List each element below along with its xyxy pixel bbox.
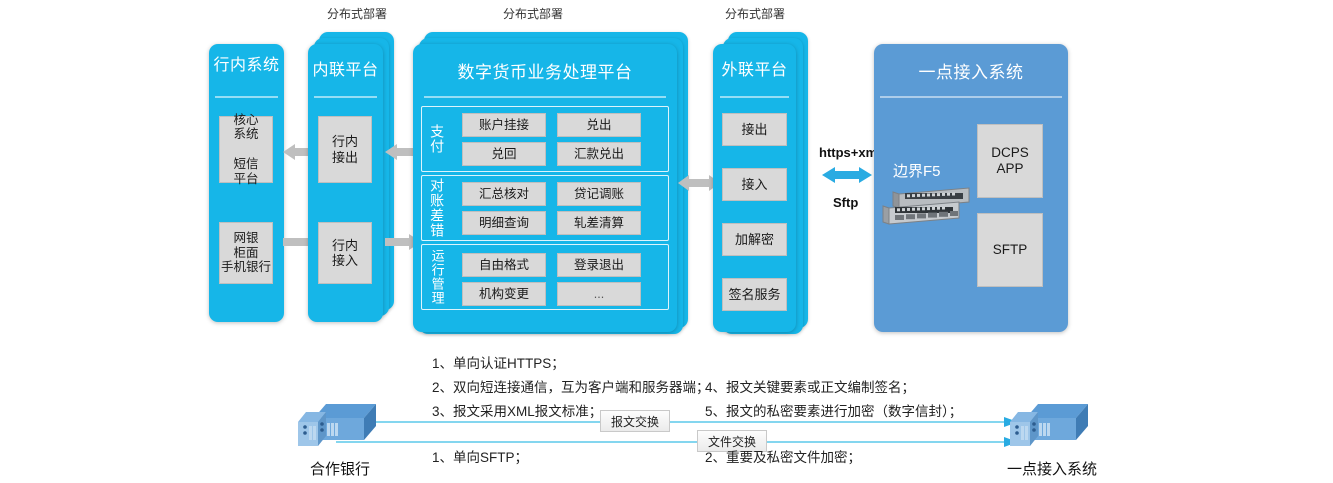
panel-bank-internal-title: 行内系统 bbox=[209, 44, 284, 75]
tile-detail-query[interactable]: 明细查询 bbox=[462, 211, 546, 235]
f5-label: 边界F5 bbox=[893, 160, 941, 181]
tile-signature-service[interactable]: 签名服务 bbox=[722, 278, 787, 311]
tile-credit-adjust[interactable]: 贷记调账 bbox=[557, 182, 641, 206]
tile-exchange-out[interactable]: 兑出 bbox=[557, 113, 641, 137]
note-bottom-right: 2、重要及私密文件加密； bbox=[705, 446, 861, 466]
link-label-https-xml: https+xml bbox=[819, 145, 881, 160]
endpoint-label-right: 一点接入系统 bbox=[992, 458, 1112, 479]
panel-dcep-title: 数字货币业务处理平台 bbox=[413, 44, 677, 83]
link-arrow-blue-icon bbox=[822, 165, 872, 185]
link-label-sftp: Sftp bbox=[833, 195, 858, 210]
tile-core-system[interactable]: 核心 系统 短信 平台 bbox=[219, 116, 273, 183]
server-icon-left bbox=[296, 400, 384, 452]
tile-intranet-out[interactable]: 行内 接出 bbox=[318, 116, 372, 183]
tile-exchange-back[interactable]: 兑回 bbox=[462, 142, 546, 166]
endpoint-label-left: 合作银行 bbox=[280, 458, 400, 479]
group-operations-label: 运行管理 bbox=[425, 246, 449, 308]
tile-account-link[interactable]: 账户挂接 bbox=[462, 113, 546, 137]
panel-external-platform-title: 外联平台 bbox=[713, 44, 796, 80]
group-reconciliation-label: 对账差错 bbox=[425, 177, 449, 239]
tile-login-logout[interactable]: 登录退出 bbox=[557, 253, 641, 277]
tile-ebank-counter-mobile[interactable]: 网银 柜面 手机银行 bbox=[219, 222, 273, 284]
chip-message-exchange[interactable]: 报文交换 bbox=[600, 410, 670, 432]
group-payment-label: 支付 bbox=[425, 108, 449, 170]
tile-more[interactable]: ... bbox=[557, 282, 641, 306]
tile-summary-check[interactable]: 汇总核对 bbox=[462, 182, 546, 206]
server-icon-right bbox=[1008, 400, 1096, 452]
note-left-2: 2、双向短连接通信，互为客户端和服务器端； bbox=[432, 376, 710, 396]
tile-sftp[interactable]: SFTP bbox=[977, 213, 1043, 287]
note-left-1: 1、单向认证HTTPS； bbox=[432, 352, 565, 372]
panel-intranet-platform-title: 内联平台 bbox=[308, 44, 383, 80]
tile-external-in[interactable]: 接入 bbox=[722, 168, 787, 201]
message-exchange-line-icon bbox=[330, 415, 1020, 429]
tile-encrypt-decrypt[interactable]: 加解密 bbox=[722, 223, 787, 256]
tile-org-change[interactable]: 机构变更 bbox=[462, 282, 546, 306]
tile-external-out[interactable]: 接出 bbox=[722, 113, 787, 146]
tile-intranet-in[interactable]: 行内 接入 bbox=[318, 222, 372, 284]
tile-dcps-app[interactable]: DCPS APP bbox=[977, 124, 1043, 198]
note-bottom-left: 1、单向SFTP； bbox=[432, 446, 528, 466]
panel-single-access-title: 一点接入系统 bbox=[874, 44, 1068, 83]
tile-remittance-out[interactable]: 汇款兑出 bbox=[557, 142, 641, 166]
tile-free-format[interactable]: 自由格式 bbox=[462, 253, 546, 277]
network-switch-stack-icon bbox=[881, 186, 973, 232]
note-right-4: 4、报文关键要素或正文编制签名； bbox=[705, 376, 915, 396]
tile-netting-settle[interactable]: 轧差清算 bbox=[557, 211, 641, 235]
